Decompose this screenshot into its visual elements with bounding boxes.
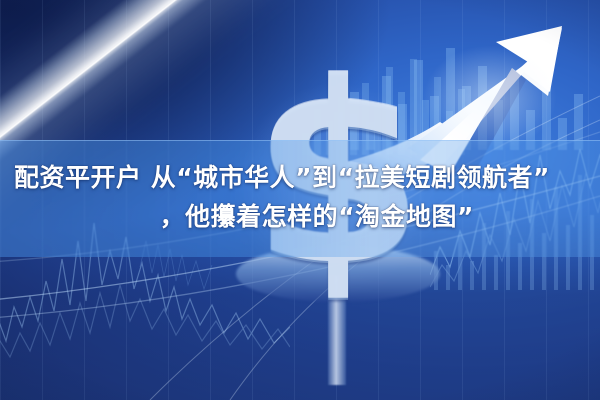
headline-band-edge [0,140,600,141]
headline: 配资平开户 从“城市华人”到“拉美短剧领航者” ，他攥着怎样的“淘金地图” [0,158,600,236]
banner-image: $ 配资平开户 从“城市华人”到“拉美短剧领航者” ，他攥着怎样的“淘金地图” [0,0,600,400]
headline-line-2: ，他攥着怎样的“淘金地图” [14,197,586,236]
headline-line-1: 配资平开户 从“城市华人”到“拉美短剧领航者” [14,158,586,197]
